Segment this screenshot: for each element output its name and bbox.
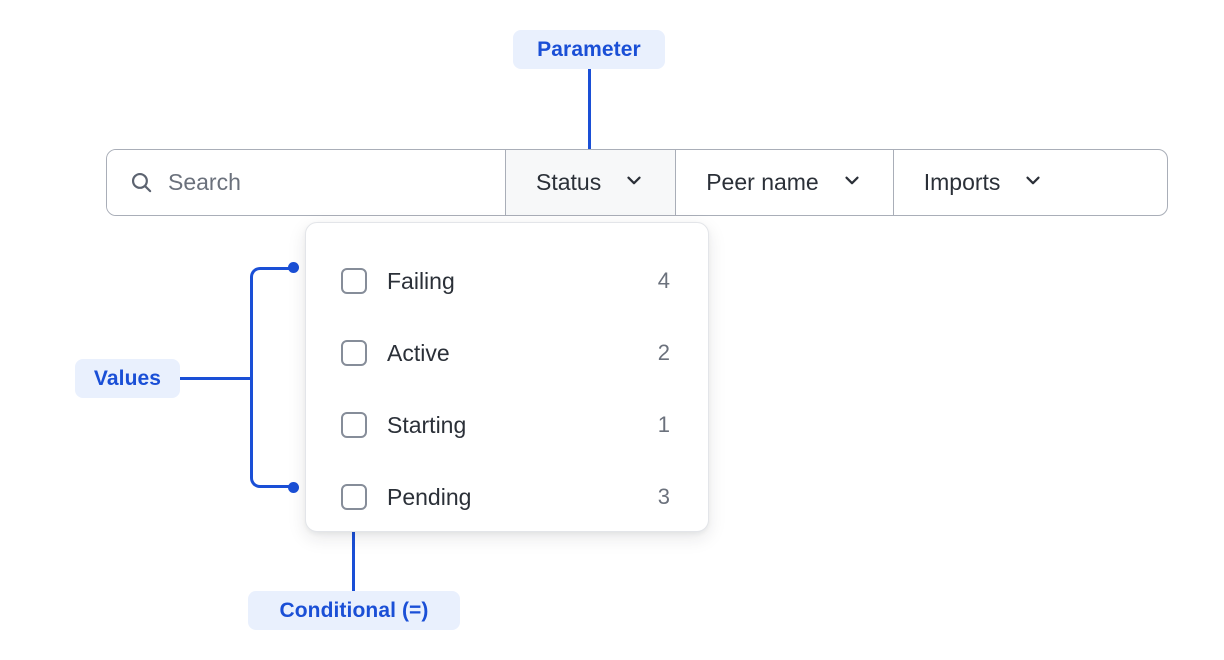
dropdown-option-label: Failing (387, 268, 654, 295)
dropdown-option-count: 1 (654, 412, 670, 438)
annotation-badge-conditional: Conditional (=) (248, 591, 460, 630)
dropdown-option-failing[interactable]: Failing 4 (306, 245, 708, 317)
dropdown-option-pending[interactable]: Pending 3 (306, 461, 708, 533)
dropdown-option-count: 4 (654, 268, 670, 294)
dropdown-option-count: 3 (654, 484, 670, 510)
annotated-filter-diagram: Parameter Values Conditional (=) Status (0, 0, 1224, 660)
dropdown-option-label: Active (387, 340, 654, 367)
connector-line-values (180, 377, 252, 380)
filter-toolbar: Status Peer name Imports (106, 149, 1168, 216)
checkbox-failing[interactable] (341, 268, 367, 294)
search-icon (129, 170, 154, 195)
annotation-badge-values: Values (75, 359, 180, 398)
dropdown-option-starting[interactable]: Starting 1 (306, 389, 708, 461)
filter-label-peer-name: Peer name (706, 169, 819, 196)
connector-bracket-values (250, 267, 294, 488)
chevron-down-icon (1022, 169, 1044, 197)
dropdown-option-count: 2 (654, 340, 670, 366)
checkbox-starting[interactable] (341, 412, 367, 438)
connector-line-parameter (588, 69, 591, 155)
search-input[interactable] (168, 169, 468, 196)
dropdown-option-active[interactable]: Active 2 (306, 317, 708, 389)
chevron-down-icon (841, 169, 863, 197)
connector-dot-values-top (288, 262, 299, 273)
filter-label-status: Status (536, 169, 601, 196)
search-cell[interactable] (107, 150, 506, 215)
status-filter-dropdown: Failing 4 Active 2 Starting 1 Pending 3 (305, 222, 709, 532)
filter-button-status[interactable]: Status (506, 150, 676, 215)
chevron-down-icon (623, 169, 645, 197)
filter-button-imports[interactable]: Imports (894, 150, 1075, 215)
checkbox-active[interactable] (341, 340, 367, 366)
filter-label-imports: Imports (924, 169, 1001, 196)
connector-dot-values-bottom (288, 482, 299, 493)
annotation-badge-parameter: Parameter (513, 30, 665, 69)
dropdown-option-label: Pending (387, 484, 654, 511)
filter-button-peer-name[interactable]: Peer name (676, 150, 894, 215)
dropdown-option-label: Starting (387, 412, 654, 439)
checkbox-pending[interactable] (341, 484, 367, 510)
